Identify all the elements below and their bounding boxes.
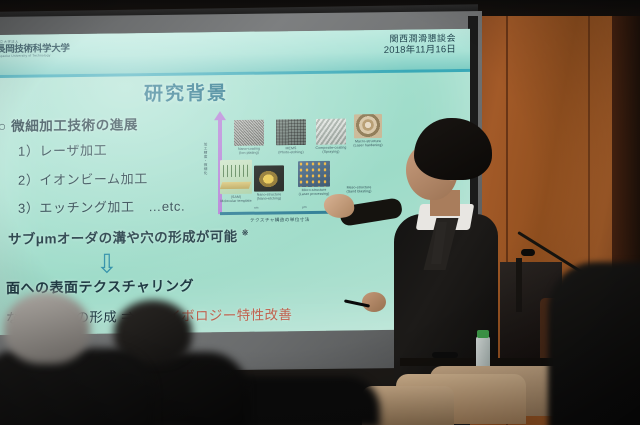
caption-bottom: Molecular template	[217, 199, 255, 204]
caption-micro-structure: Micro-structure (Laser processing)	[295, 188, 333, 197]
figure-cell-molecular-template: (SAM) Molecular template	[220, 160, 252, 194]
presenter-hair	[414, 118, 492, 180]
caption-nano-coating: Nano-coating (Ion plating)	[231, 147, 267, 156]
bullet-heading: ○ 微細加工技術の進展	[0, 113, 138, 135]
caption-bottom: (Ion plating)	[231, 151, 267, 156]
thumb-composite-coating	[316, 118, 346, 144]
audience-member-right	[548, 262, 640, 425]
thumb-molecular-template	[220, 160, 252, 194]
thumb-micro-structure	[298, 161, 330, 187]
caption-composite-coating: Composite-coating (Spraying)	[313, 145, 349, 154]
figure-cell-micro-structure: Micro-structure (Laser processing)	[298, 161, 330, 187]
molecular-chains	[223, 165, 250, 177]
caption-bottom: (Laser hardening)	[351, 143, 385, 148]
thumb-meso-structure	[344, 156, 374, 184]
figure-cell-meso-structure: Meso-structure (Sand blasting)	[344, 156, 374, 184]
meeting-date: 2018年11月16日	[384, 44, 456, 56]
bullet-item-2: 2）イオンビーム加工	[18, 168, 148, 189]
microphone-icon	[521, 249, 535, 256]
figure-cell-nano-structure: Nano-structure (Nano-etching)	[254, 165, 284, 191]
slide-title: 研究背景	[144, 78, 228, 106]
university-logo: 国立大学法人 長岡技術科学大学 Nagaoka University of Te…	[0, 40, 70, 58]
presenter-lower-hand	[362, 292, 386, 312]
caption-bottom: (Nano-etching)	[251, 197, 287, 202]
caption-bottom: (Sand blasting)	[341, 189, 377, 194]
thumb-mems	[276, 119, 306, 145]
meeting-name: 関西潤滑懇談会	[384, 33, 456, 45]
axis-tick-um: μm	[302, 205, 307, 209]
water-bottle	[476, 336, 490, 370]
figure-cell-mems: MEMS (Photo-etching)	[276, 119, 306, 145]
caption-mems: MEMS (Photo-etching)	[273, 146, 309, 155]
meeting-info: 関西潤滑懇談会 2018年11月16日	[384, 33, 456, 56]
axis-tick-nm: nm	[254, 206, 258, 210]
figure-cell-macro-structure: Macro-structure (Laser hardening)	[354, 114, 382, 138]
caption-nano-structure: Nano-structure (Nano-etching)	[251, 192, 287, 201]
vertical-axis-label: 加工精度・微細化	[204, 142, 209, 175]
audience-member-1-head	[4, 292, 90, 364]
bottle-cap	[477, 330, 489, 338]
caption-macro-structure: Macro-structure (Laser hardening)	[351, 139, 385, 148]
lecture-hall-photo: 国立大学法人 長岡技術科学大学 Nagaoka University of Te…	[0, 0, 640, 425]
mic-stand-pole	[516, 258, 522, 312]
bullet-item-3: 3）エッチング加工 …etc.	[18, 196, 185, 217]
figure-cell-nano-coating: Nano-coating (Ion plating)	[234, 120, 264, 146]
bullet-item-1: 1）レーザ加工	[18, 140, 107, 160]
footnote-mark: ※	[242, 228, 249, 237]
substrate-plate	[220, 182, 252, 190]
result-text: サブμmオーダの溝や穴の形成が可能	[8, 229, 238, 247]
caption-bottom: (Spraying)	[313, 150, 349, 155]
caption-molecular-template: (SAM) Molecular template	[217, 195, 255, 204]
horizontal-axis-label: テクスチャ構造の単位寸法	[250, 217, 310, 224]
figure-cell-composite-coating: Composite-coating (Spraying)	[316, 118, 346, 144]
thumb-macro-structure	[354, 114, 382, 138]
thumb-nano-coating	[234, 120, 264, 146]
caption-bottom: (Photo-etching)	[273, 150, 309, 155]
thumb-nano-structure	[254, 165, 284, 191]
remote-clicker	[432, 352, 458, 358]
caption-meso-structure: Meso-structure (Sand blasting)	[341, 185, 377, 194]
